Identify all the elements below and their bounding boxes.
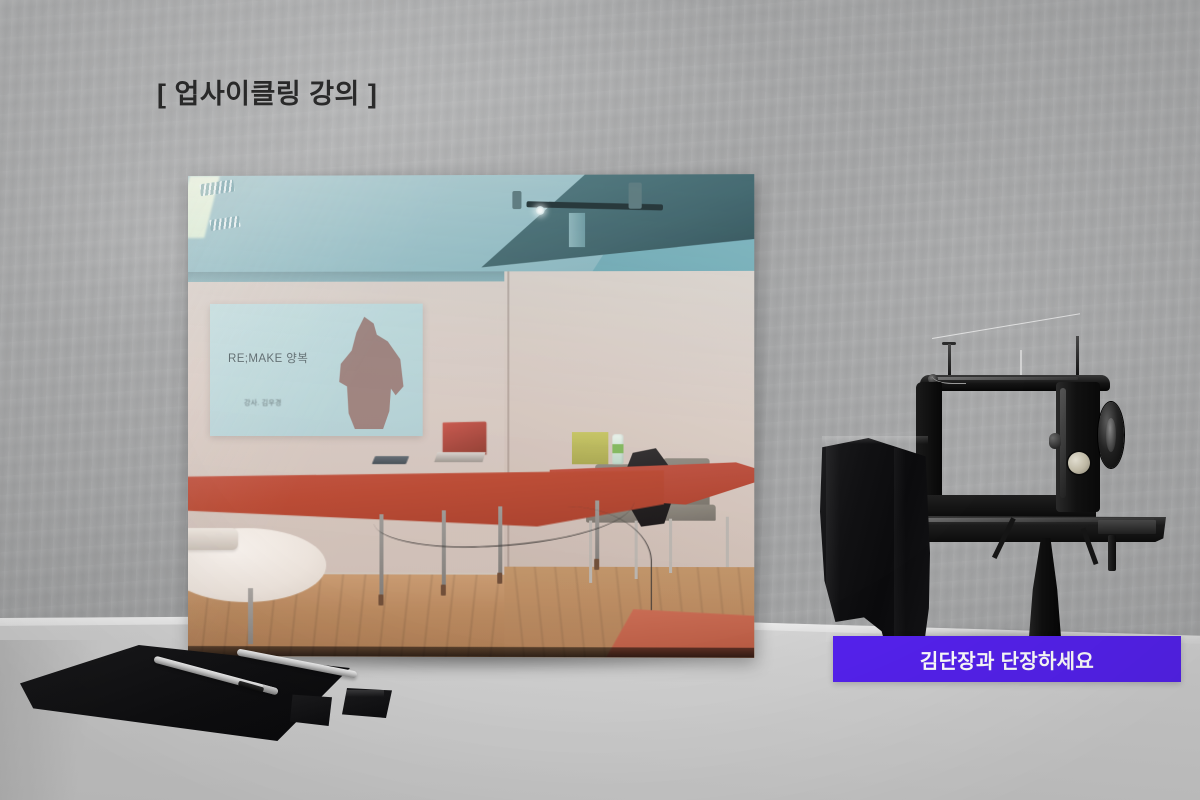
fabric-square-large [342,688,392,718]
table-leg-cap [441,585,446,596]
stitch-knob [1049,433,1061,449]
laptop-screen [442,422,486,455]
fabric-fold-left [826,442,840,642]
notebook [372,456,409,464]
ceiling-column [569,213,585,247]
thread-drop-icon [1020,350,1022,378]
brand-banner-label: 김단장과 단장하세요 [920,645,1094,674]
fabric-sheen [346,690,384,697]
table-leg-cap [378,594,383,605]
slide-jacket-silhouette [328,317,406,429]
hand-wheel-hub [1106,418,1116,452]
spool-pin [1076,336,1079,378]
lecture-room-photo: RE;MAKE 양복 강사. 김우경 [188,174,754,658]
page-title: [ 업사이클링 강의 ] [157,72,377,111]
object-on-round-table [188,528,238,550]
poster-canvas: [ 업사이클링 강의 ] [0,0,1200,800]
chair-leg [669,519,672,573]
vintage-sewing-machine [820,330,1192,650]
slide-instructor: 강사. 김우경 [244,398,282,408]
power-cable-run [481,506,651,617]
fabric-square-small [290,694,332,726]
bottle-label [612,444,623,453]
fabric-fold-right [894,448,906,654]
ceiling-duct [629,183,642,209]
chair-leg [726,517,729,567]
ceiling-fixture [513,191,522,209]
green-board [572,432,608,464]
projection-screen: RE;MAKE 양복 강사. 김우경 [210,304,423,436]
brand-banner[interactable]: 김단장과 단장하세요 [833,636,1181,682]
slide-title: RE;MAKE 양복 [228,350,308,366]
needle-plate [1098,520,1156,534]
spot-light-icon [535,206,544,215]
laptop-keyboard [434,452,486,462]
machine-name-badge [1068,452,1090,474]
round-table-leg [248,588,253,644]
bed-side-bracket [1108,535,1116,571]
